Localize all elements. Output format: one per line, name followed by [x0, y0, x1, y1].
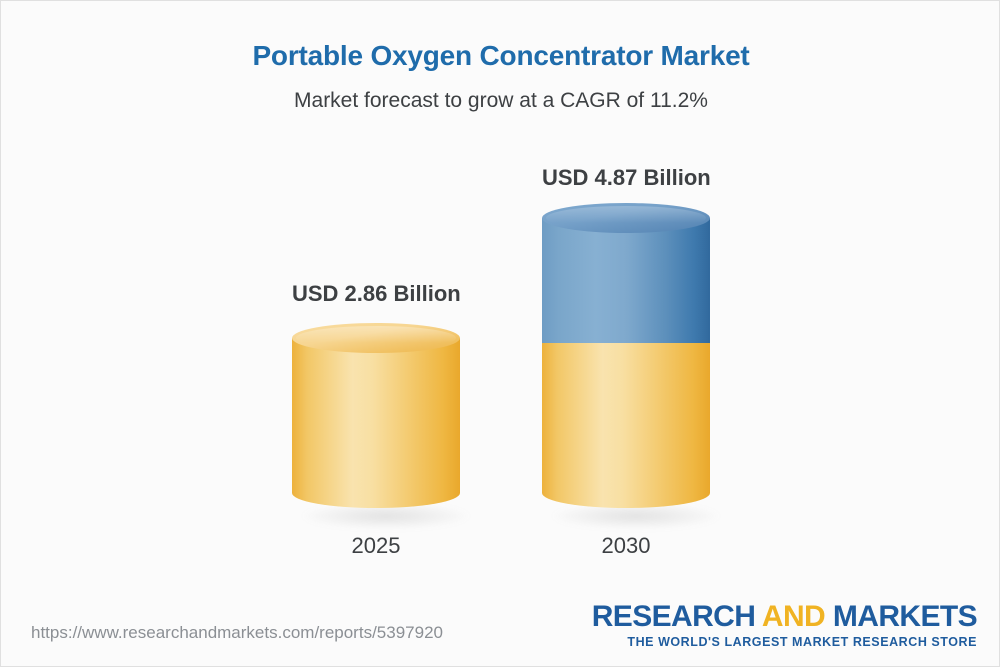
- value-label-2030: USD 4.87 Billion: [542, 165, 710, 191]
- chart-plot-area: USD 2.86 Billion USD 4.87 Billion 2025 2…: [1, 1, 1000, 601]
- logo-wordmark: RESEARCH AND MARKETS: [592, 601, 977, 633]
- bar-cylinder-2025[interactable]: [292, 323, 460, 523]
- logo-word-markets: MARKETS: [833, 600, 977, 633]
- source-url[interactable]: https://www.researchandmarkets.com/repor…: [31, 623, 443, 643]
- chart-canvas: Portable Oxygen Concentrator Market Mark…: [0, 0, 1000, 667]
- logo-tagline: THE WORLD'S LARGEST MARKET RESEARCH STOR…: [592, 635, 977, 649]
- bar-segment-2025-yellow: [292, 338, 460, 493]
- value-label-2025: USD 2.86 Billion: [292, 281, 460, 307]
- research-and-markets-logo[interactable]: RESEARCH AND MARKETS THE WORLD'S LARGEST…: [592, 601, 977, 649]
- bar-bottom-cap-2030: [542, 478, 710, 508]
- bar-cylinder-2030[interactable]: [542, 203, 710, 523]
- logo-word-research: RESEARCH: [592, 600, 756, 633]
- category-label-2025: 2025: [292, 533, 460, 559]
- bar-bottom-cap-2025: [292, 478, 460, 508]
- bar-segment-2030-yellow: [542, 343, 710, 493]
- bar-top-ellipse-2030: [542, 203, 710, 233]
- logo-word-and: AND: [762, 600, 825, 633]
- bar-top-ellipse-2025: [292, 323, 460, 353]
- category-label-2030: 2030: [542, 533, 710, 559]
- bar-segment-2030-blue: [542, 218, 710, 343]
